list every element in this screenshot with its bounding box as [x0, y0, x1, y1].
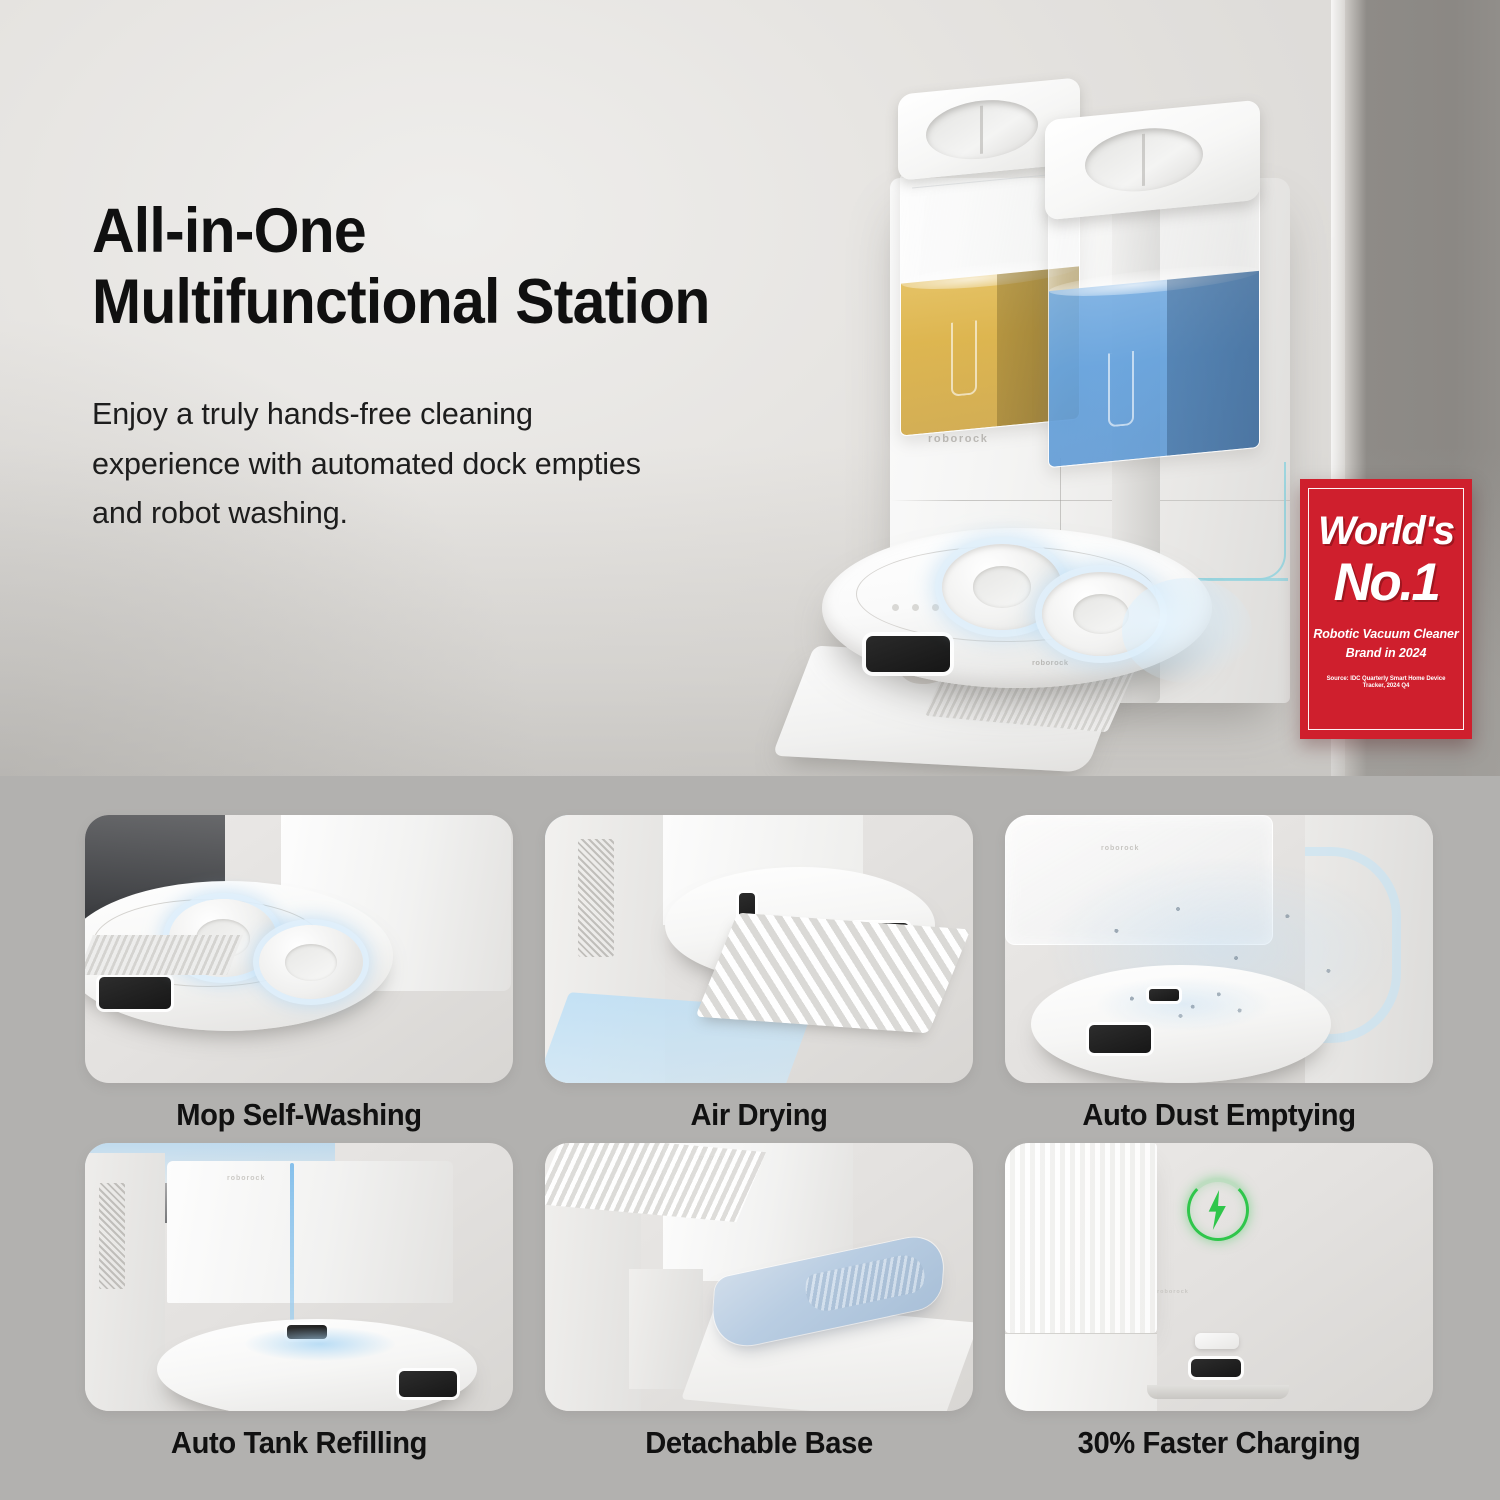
dust-particles — [1097, 977, 1271, 1031]
feature-label: Air Drying — [558, 1097, 960, 1133]
badge-subtitle-line-1: Robotic Vacuum Cleaner — [1309, 625, 1463, 644]
feature-label: Mop Self-Washing — [98, 1097, 500, 1133]
feature-card-air-drying[interactable]: Air Drying — [545, 815, 973, 1133]
robot-sensor-window — [1191, 1359, 1241, 1377]
lid-grip-dish — [926, 95, 1038, 164]
water-refill-stream — [290, 1163, 294, 1337]
robot-sensor-window — [399, 1371, 457, 1397]
page-title: All-in-One Multifunctional Station — [92, 196, 840, 338]
badge-subtitle: Robotic Vacuum Cleaner Brand in 2024 — [1309, 625, 1463, 663]
robot-vacuum — [1031, 965, 1331, 1083]
drain-grate — [85, 935, 243, 975]
tank-handle — [1108, 351, 1134, 428]
lid-grip-dish — [1085, 123, 1203, 196]
badge-inner-border: World's No.1 Robotic Vacuum Cleaner Bran… — [1308, 488, 1464, 730]
water-ripple — [245, 1327, 395, 1361]
textured-drying-base — [695, 913, 970, 1034]
features-section: Mop Self-Washing Air Drying — [0, 776, 1500, 1500]
tank-refilling-icon: roborock — [85, 1143, 513, 1411]
robot-indicator-dots — [892, 604, 939, 611]
robot-lidar-turret — [1195, 1333, 1239, 1349]
air-vent-grille — [578, 839, 614, 957]
robot-vacuum: roborock — [822, 528, 1212, 688]
dust-bag-chamber — [1005, 815, 1273, 945]
hero-section: All-in-One Multifunctional Station Enjoy… — [0, 0, 1500, 776]
robot-dust-port — [1149, 989, 1179, 1001]
badge-source-note: Source: IDC Quarterly Smart Home Device … — [1309, 676, 1463, 692]
headline-line-1: All-in-One — [92, 196, 366, 266]
robot-brand-label: roborock — [1032, 658, 1069, 667]
feature-card-faster-charging[interactable]: roborock 30% Faster Charging — [1005, 1143, 1433, 1461]
feature-label: Auto Dust Emptying — [1018, 1097, 1420, 1133]
tank-shadow-side — [1167, 271, 1259, 456]
detachable-base-icon: roborock — [545, 1143, 973, 1411]
dust-emptying-icon: roborock — [1005, 815, 1433, 1083]
dock-foot — [1147, 1385, 1289, 1399]
hero-product-image: roborock — [760, 58, 1360, 758]
feature-label: Auto Tank Refilling — [98, 1425, 500, 1461]
station-tower — [1005, 1143, 1157, 1333]
feature-card-mop-self-washing[interactable]: Mop Self-Washing — [85, 815, 513, 1133]
water-splash — [1122, 578, 1252, 683]
award-badge: World's No.1 Robotic Vacuum Cleaner Bran… — [1300, 479, 1472, 739]
robot-sensor-window — [1089, 1025, 1151, 1053]
robot-sensor-window — [866, 636, 950, 672]
headline-line-2: Multifunctional Station — [92, 267, 710, 337]
hero-subcopy: Enjoy a truly hands-free cleaning experi… — [92, 390, 677, 538]
station-brand-label: roborock — [1157, 1289, 1189, 1295]
feature-card-auto-dust-emptying[interactable]: roborock Auto Dust Emptying — [1005, 815, 1433, 1133]
mop-pad — [259, 925, 363, 999]
robot-sensor-window — [99, 977, 171, 1009]
clean-water-liquid — [1049, 271, 1259, 467]
station-side-wall — [85, 1153, 165, 1411]
station-brand-label: roborock — [227, 1175, 265, 1182]
air-vent-grille — [99, 1183, 125, 1289]
badge-number-one-text: No.1 — [1309, 556, 1463, 609]
badge-subtitle-line-2: Brand in 2024 — [1309, 644, 1463, 663]
station-lower-housing — [1005, 1333, 1157, 1411]
product-feature-page: All-in-One Multifunctional Station Enjoy… — [0, 0, 1500, 1500]
mop-washing-icon — [85, 815, 513, 1083]
fast-charging-icon: roborock — [1005, 1143, 1433, 1411]
feature-card-detachable-base[interactable]: roborock Detachable Base — [545, 1143, 973, 1461]
station-brand-label: roborock — [1101, 845, 1139, 852]
water-tube — [1160, 462, 1286, 580]
tank-handle — [951, 320, 977, 397]
feature-label: 30% Faster Charging — [1018, 1425, 1420, 1461]
air-drying-icon — [545, 815, 973, 1083]
dock-brandmark: roborock — [928, 433, 988, 445]
clean-tank-lid — [1045, 100, 1260, 221]
clean-water-tank — [1048, 180, 1260, 468]
features-grid: Mop Self-Washing Air Drying — [85, 815, 1430, 1461]
badge-worlds-text: World's — [1309, 511, 1463, 551]
feature-label: Detachable Base — [558, 1425, 960, 1461]
feature-card-auto-tank-refilling[interactable]: roborock Auto Tank Refilling — [85, 1143, 513, 1461]
station-housing — [167, 1161, 453, 1303]
